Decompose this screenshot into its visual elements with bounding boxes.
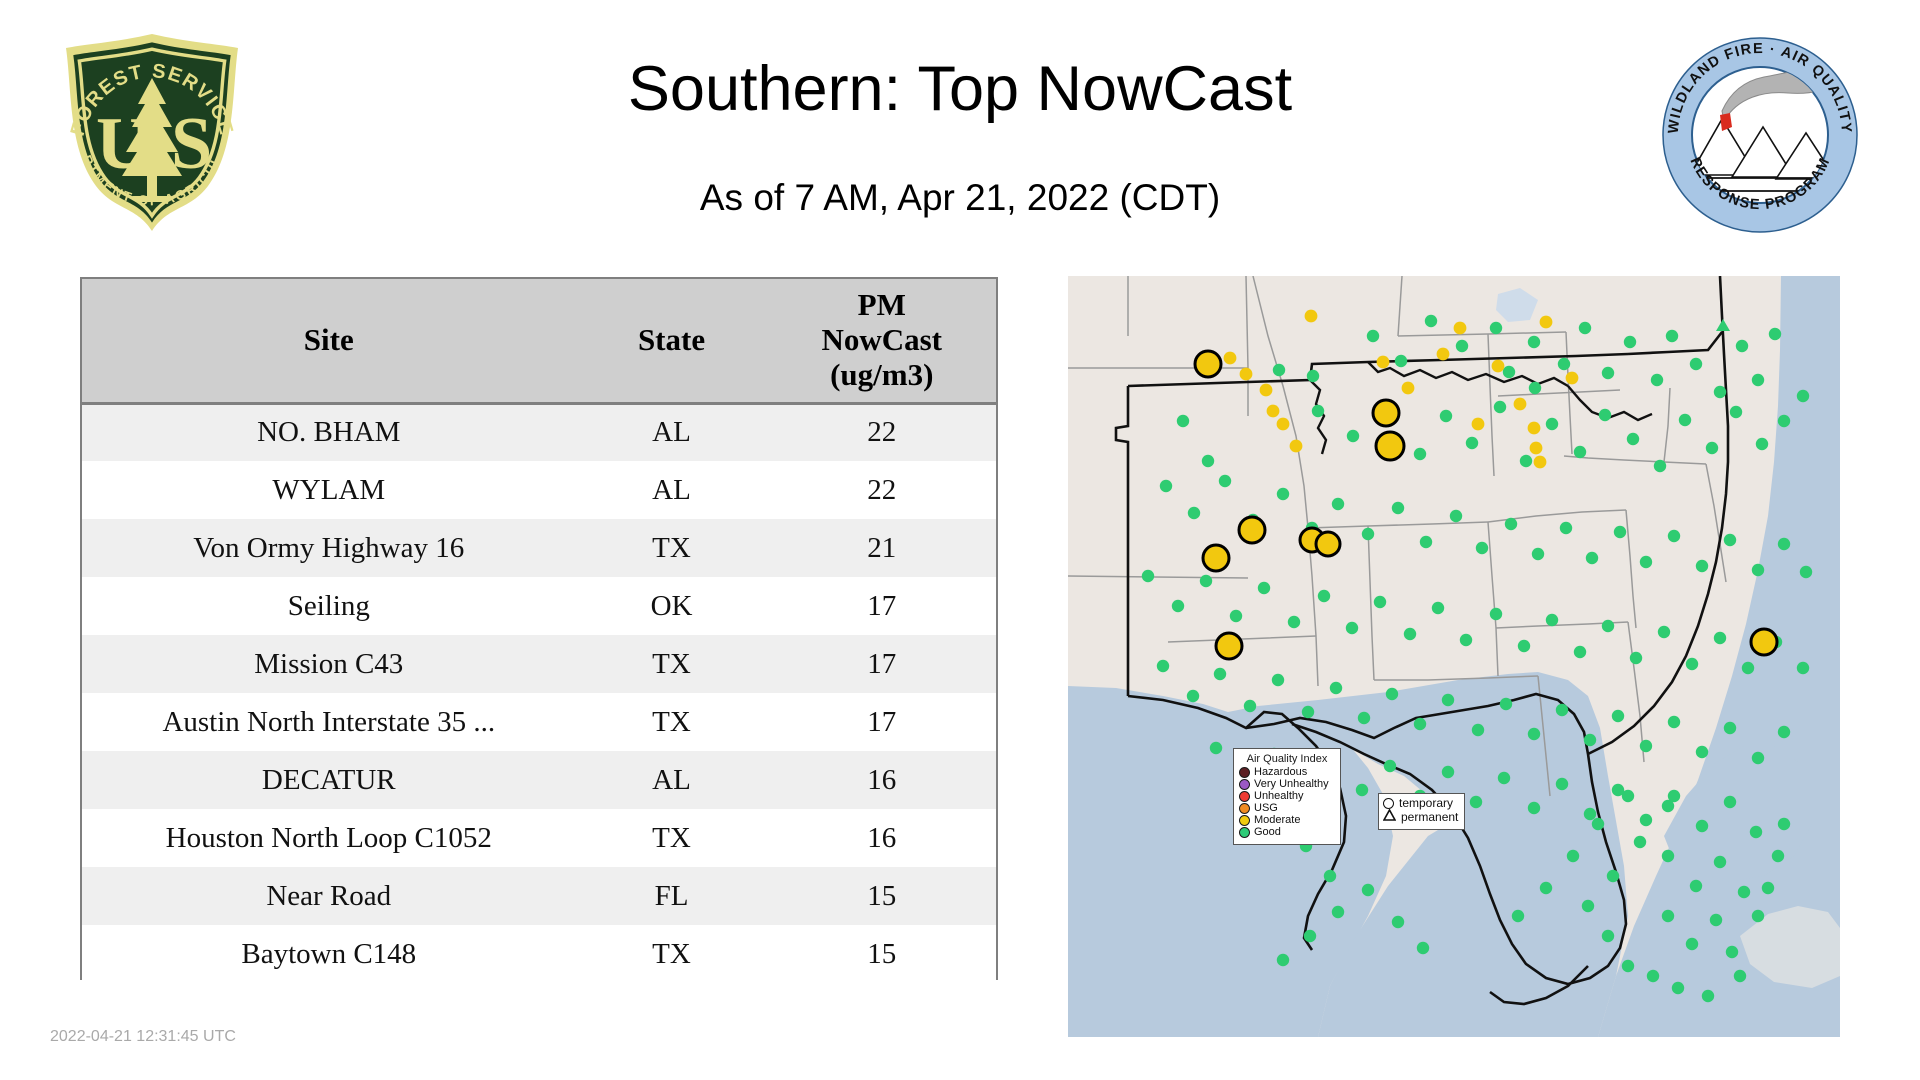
aqi-legend-dot-icon (1239, 779, 1250, 790)
marker-good[interactable] (1734, 970, 1746, 982)
marker-good[interactable] (1696, 746, 1708, 758)
cell-value: 22 (767, 461, 996, 519)
marker-good[interactable] (1579, 322, 1591, 334)
aqi-legend-label: Good (1254, 827, 1281, 838)
aqi-legend-label: Very Unhealthy (1254, 779, 1329, 790)
marker-good[interactable] (1520, 455, 1532, 467)
marker-good[interactable] (1503, 366, 1515, 378)
marker-good[interactable] (1200, 575, 1212, 587)
marker-good[interactable] (1647, 970, 1659, 982)
cell-value: 17 (767, 693, 996, 751)
marker-good[interactable] (1187, 690, 1199, 702)
marker-good[interactable] (1556, 778, 1568, 790)
marker-good[interactable] (1450, 510, 1462, 522)
cell-value: 15 (767, 925, 996, 983)
marker-good[interactable] (1592, 818, 1604, 830)
nowcast-report-page: FOREST SERVICE U S DEPARTMENT OF AGRICUL… (0, 0, 1920, 1080)
marker-moderate[interactable] (1437, 348, 1450, 361)
usfs-shield-logo: FOREST SERVICE U S DEPARTMENT OF AGRICUL… (52, 30, 252, 235)
cell-value: 15 (767, 867, 996, 925)
marker-good[interactable] (1612, 710, 1624, 722)
table-row[interactable]: Mission C43TX17 (82, 635, 996, 693)
table-row[interactable]: Baytown C148TX15 (82, 925, 996, 983)
marker-good[interactable] (1490, 322, 1502, 334)
marker-good[interactable] (1756, 438, 1768, 450)
marker-good[interactable] (1277, 954, 1289, 966)
marker-moderate[interactable] (1492, 360, 1505, 373)
marker-good[interactable] (1662, 850, 1674, 862)
cell-site: Mission C43 (82, 635, 576, 693)
marker-good[interactable] (1752, 910, 1764, 922)
marker-good[interactable] (1599, 409, 1611, 421)
marker-good[interactable] (1730, 406, 1742, 418)
pm-header-line3: (ug/m3) (771, 358, 992, 393)
legend-row-temporary: temporary (1383, 797, 1458, 809)
marker-good[interactable] (1490, 608, 1502, 620)
marker-good[interactable] (1714, 386, 1726, 398)
marker-good[interactable] (1624, 336, 1636, 348)
marker-good[interactable] (1202, 455, 1214, 467)
marker-good[interactable] (1724, 722, 1736, 734)
marker-good[interactable] (1346, 622, 1358, 634)
marker-good[interactable] (1607, 870, 1619, 882)
table-row[interactable]: Austin North Interstate 35 ...TX17 (82, 693, 996, 751)
table-row[interactable]: Von Ormy Highway 16TX21 (82, 519, 996, 577)
marker-good[interactable] (1630, 652, 1642, 664)
marker-good[interactable] (1686, 938, 1698, 950)
table-body: NO. BHAMAL22WYLAMAL22Von Ormy Highway 16… (82, 403, 996, 983)
column-header-pm-nowcast: PM NowCast (ug/m3) (767, 279, 996, 403)
legend-row-permanent: permanent (1383, 809, 1458, 825)
marker-good[interactable] (1392, 502, 1404, 514)
page-title: Southern: Top NowCast (330, 55, 1590, 124)
marker-good[interactable] (1560, 522, 1572, 534)
marker-moderate[interactable] (1305, 310, 1318, 323)
marker-moderate[interactable] (1566, 372, 1579, 385)
marker-good[interactable] (1736, 340, 1748, 352)
marker-good[interactable] (1472, 724, 1484, 736)
marker-good[interactable] (1574, 646, 1586, 658)
marker-good[interactable] (1332, 498, 1344, 510)
marker-good[interactable] (1404, 628, 1416, 640)
marker-good[interactable] (1273, 364, 1285, 376)
marker-good[interactable] (1710, 914, 1722, 926)
marker-good[interactable] (1272, 674, 1284, 686)
marker-good[interactable] (1476, 542, 1488, 554)
marker-good[interactable] (1324, 870, 1336, 882)
cell-site: Austin North Interstate 35 ... (82, 693, 576, 751)
marker-good[interactable] (1772, 850, 1784, 862)
marker-good[interactable] (1330, 682, 1342, 694)
marker-good[interactable] (1367, 330, 1379, 342)
marker-good[interactable] (1312, 405, 1324, 417)
aqi-legend-row: Good (1239, 827, 1335, 838)
marker-moderate[interactable] (1514, 398, 1527, 411)
marker-good[interactable] (1332, 906, 1344, 918)
marker-good[interactable] (1627, 433, 1639, 445)
marker-good[interactable] (1778, 415, 1790, 427)
marker-good[interactable] (1414, 718, 1426, 730)
marker-good[interactable] (1420, 536, 1432, 548)
marker-good[interactable] (1432, 602, 1444, 614)
cell-state: TX (576, 925, 768, 983)
marker-top-site[interactable] (1216, 633, 1242, 659)
table-header-row: Site State PM NowCast (ug/m3) (82, 279, 996, 403)
marker-moderate[interactable] (1240, 368, 1253, 381)
pm-header-line1: PM (771, 288, 992, 323)
marker-good[interactable] (1362, 528, 1374, 540)
air-quality-map[interactable]: Air Quality Index HazardousVery Unhealth… (1068, 276, 1840, 1037)
marker-permanent-good[interactable] (1716, 319, 1730, 331)
marker-good[interactable] (1666, 330, 1678, 342)
column-header-state: State (576, 279, 768, 403)
marker-good[interactable] (1505, 518, 1517, 530)
marker-good[interactable] (1679, 414, 1691, 426)
footer-timestamp: 2022-04-21 12:31:45 UTC (50, 1028, 236, 1046)
marker-good[interactable] (1362, 884, 1374, 896)
marker-good[interactable] (1230, 610, 1242, 622)
marker-good[interactable] (1494, 401, 1506, 413)
cell-site: Near Road (82, 867, 576, 925)
marker-good[interactable] (1714, 632, 1726, 644)
aqi-legend-dot-icon (1239, 827, 1250, 838)
wfaqrp-logo-svg: WILDLAND FIRE · AIR QUALITY RESPONSE PRO… (1660, 35, 1860, 235)
cell-state: OK (576, 577, 768, 635)
marker-moderate[interactable] (1224, 352, 1237, 365)
marker-good[interactable] (1574, 446, 1586, 458)
temporary-circle-icon (1383, 798, 1394, 809)
marker-top-site[interactable] (1376, 432, 1404, 460)
marker-good[interactable] (1258, 582, 1270, 594)
marker-moderate[interactable] (1472, 418, 1485, 431)
cell-site: Von Ormy Highway 16 (82, 519, 576, 577)
cell-site: Houston North Loop C1052 (82, 809, 576, 867)
marker-good[interactable] (1532, 548, 1544, 560)
marker-good[interactable] (1358, 712, 1370, 724)
pm-header-line2: NowCast (771, 323, 992, 358)
marker-good[interactable] (1686, 658, 1698, 670)
marker-good[interactable] (1540, 882, 1552, 894)
marker-good[interactable] (1662, 910, 1674, 922)
marker-good[interactable] (1724, 534, 1736, 546)
marker-good[interactable] (1752, 374, 1764, 386)
aqi-legend-dot-icon (1239, 767, 1250, 778)
marker-good[interactable] (1558, 358, 1570, 370)
marker-good[interactable] (1528, 728, 1540, 740)
marker-moderate[interactable] (1540, 316, 1553, 329)
marker-good[interactable] (1529, 382, 1541, 394)
aqi-legend-row: Hazardous (1239, 767, 1335, 778)
marker-good[interactable] (1567, 850, 1579, 862)
marker-good[interactable] (1302, 706, 1314, 718)
marker-good[interactable] (1425, 315, 1437, 327)
marker-good[interactable] (1690, 358, 1702, 370)
marker-moderate[interactable] (1454, 322, 1467, 335)
marker-good[interactable] (1172, 600, 1184, 612)
table-row[interactable]: Near RoadFL15 (82, 867, 996, 925)
cell-site: Seiling (82, 577, 576, 635)
marker-good[interactable] (1584, 808, 1596, 820)
marker-good[interactable] (1214, 668, 1226, 680)
marker-good[interactable] (1210, 742, 1222, 754)
aqi-legend-row: Moderate (1239, 815, 1335, 826)
marker-good[interactable] (1651, 374, 1663, 386)
marker-moderate[interactable] (1528, 422, 1541, 435)
cell-state: AL (576, 461, 768, 519)
aqi-legend-label: USG (1254, 803, 1278, 814)
cell-site: Baytown C148 (82, 925, 576, 983)
marker-good[interactable] (1347, 430, 1359, 442)
marker-good[interactable] (1634, 836, 1646, 848)
marker-good[interactable] (1622, 790, 1634, 802)
marker-good[interactable] (1470, 796, 1482, 808)
marker-moderate[interactable] (1290, 440, 1303, 453)
cell-state: TX (576, 635, 768, 693)
marker-good[interactable] (1277, 488, 1289, 500)
aqi-legend-dot-icon (1239, 803, 1250, 814)
marker-good[interactable] (1696, 820, 1708, 832)
cell-value: 17 (767, 577, 996, 635)
marker-moderate[interactable] (1377, 356, 1390, 369)
marker-good[interactable] (1726, 946, 1738, 958)
marker-good[interactable] (1762, 882, 1774, 894)
cell-value: 16 (767, 751, 996, 809)
aqi-legend-dot-icon (1239, 815, 1250, 826)
marker-good[interactable] (1672, 982, 1684, 994)
marker-good[interactable] (1498, 772, 1510, 784)
marker-good[interactable] (1518, 640, 1530, 652)
table-row[interactable]: SeilingOK17 (82, 577, 996, 635)
legend-label-temporary: temporary (1399, 797, 1453, 809)
marker-good[interactable] (1582, 900, 1594, 912)
marker-good[interactable] (1654, 460, 1666, 472)
marker-good[interactable] (1466, 437, 1478, 449)
marker-good[interactable] (1500, 698, 1512, 710)
marker-good[interactable] (1800, 566, 1812, 578)
marker-good[interactable] (1442, 766, 1454, 778)
marker-good[interactable] (1546, 614, 1558, 626)
top-nowcast-table: Site State PM NowCast (ug/m3) NO. BHAMAL… (80, 277, 998, 980)
marker-good[interactable] (1752, 752, 1764, 764)
marker-good[interactable] (1778, 538, 1790, 550)
marker-top-site[interactable] (1239, 517, 1265, 543)
marker-top-site[interactable] (1316, 532, 1340, 556)
cell-state: FL (576, 867, 768, 925)
marker-good[interactable] (1584, 734, 1596, 746)
page-subtitle: As of 7 AM, Apr 21, 2022 (CDT) (330, 178, 1590, 219)
marker-type-legend: temporary permanent (1378, 793, 1465, 830)
marker-moderate[interactable] (1277, 418, 1290, 431)
marker-good[interactable] (1706, 442, 1718, 454)
marker-good[interactable] (1392, 916, 1404, 928)
cell-site: NO. BHAM (82, 403, 576, 461)
marker-good[interactable] (1724, 796, 1736, 808)
marker-good[interactable] (1528, 802, 1540, 814)
marker-good[interactable] (1414, 448, 1426, 460)
marker-good[interactable] (1696, 560, 1708, 572)
legend-label-permanent: permanent (1401, 811, 1458, 823)
column-header-site: Site (82, 279, 576, 403)
marker-good[interactable] (1622, 960, 1634, 972)
cell-state: AL (576, 751, 768, 809)
permanent-triangle-icon (1383, 809, 1396, 825)
marker-good[interactable] (1188, 507, 1200, 519)
marker-good[interactable] (1658, 626, 1670, 638)
marker-top-site[interactable] (1751, 629, 1777, 655)
marker-moderate[interactable] (1402, 382, 1415, 395)
cell-value: 16 (767, 809, 996, 867)
table-row[interactable]: Houston North Loop C1052TX16 (82, 809, 996, 867)
aqi-legend: Air Quality Index HazardousVery Unhealth… (1233, 748, 1341, 845)
cell-site: DECATUR (82, 751, 576, 809)
cell-site: WYLAM (82, 461, 576, 519)
marker-moderate[interactable] (1267, 405, 1280, 418)
table-row[interactable]: WYLAMAL22 (82, 461, 996, 519)
table-row[interactable]: DECATURAL16 (82, 751, 996, 809)
marker-good[interactable] (1177, 415, 1189, 427)
marker-top-site[interactable] (1203, 545, 1229, 571)
aqi-legend-items: HazardousVery UnhealthyUnhealthyUSGModer… (1239, 767, 1335, 838)
marker-good[interactable] (1142, 570, 1154, 582)
marker-good[interactable] (1157, 660, 1169, 672)
marker-top-site[interactable] (1195, 351, 1221, 377)
cell-value: 21 (767, 519, 996, 577)
marker-good[interactable] (1417, 942, 1429, 954)
marker-good[interactable] (1797, 662, 1809, 674)
marker-good[interactable] (1662, 800, 1674, 812)
marker-good[interactable] (1714, 856, 1726, 868)
marker-good[interactable] (1288, 616, 1300, 628)
aqi-legend-row: USG (1239, 803, 1335, 814)
marker-good[interactable] (1456, 340, 1468, 352)
lake-hint (1496, 288, 1538, 322)
usfs-shield-svg: FOREST SERVICE U S DEPARTMENT OF AGRICUL… (52, 30, 252, 235)
cell-value: 17 (767, 635, 996, 693)
aqi-legend-label: Hazardous (1254, 767, 1307, 778)
marker-moderate[interactable] (1534, 456, 1547, 469)
marker-moderate[interactable] (1260, 384, 1273, 397)
cell-state: TX (576, 693, 768, 751)
marker-good[interactable] (1440, 410, 1452, 422)
wfaqrp-circular-logo: WILDLAND FIRE · AIR QUALITY RESPONSE PRO… (1660, 35, 1860, 235)
aqi-legend-label: Moderate (1254, 815, 1300, 826)
marker-good[interactable] (1384, 760, 1396, 772)
marker-good[interactable] (1640, 740, 1652, 752)
marker-good[interactable] (1640, 814, 1652, 826)
marker-moderate[interactable] (1530, 442, 1543, 455)
aqi-legend-label: Unhealthy (1254, 791, 1304, 802)
marker-top-site[interactable] (1373, 400, 1399, 426)
aqi-legend-dot-icon (1239, 791, 1250, 802)
marker-good[interactable] (1586, 552, 1598, 564)
marker-good[interactable] (1742, 662, 1754, 674)
marker-good[interactable] (1546, 418, 1558, 430)
marker-good[interactable] (1442, 694, 1454, 706)
marker-good[interactable] (1307, 370, 1319, 382)
marker-good[interactable] (1778, 726, 1790, 738)
marker-good[interactable] (1160, 480, 1172, 492)
aqi-legend-row: Unhealthy (1239, 791, 1335, 802)
cell-value: 22 (767, 403, 996, 461)
marker-good[interactable] (1614, 526, 1626, 538)
marker-good[interactable] (1512, 910, 1524, 922)
aqi-legend-title: Air Quality Index (1239, 753, 1335, 765)
marker-good[interactable] (1750, 826, 1762, 838)
marker-good[interactable] (1386, 688, 1398, 700)
marker-good[interactable] (1602, 930, 1614, 942)
marker-good[interactable] (1640, 556, 1652, 568)
marker-good[interactable] (1395, 355, 1407, 367)
marker-good[interactable] (1528, 336, 1540, 348)
marker-good[interactable] (1356, 784, 1368, 796)
marker-good[interactable] (1602, 620, 1614, 632)
marker-good[interactable] (1738, 886, 1750, 898)
marker-good[interactable] (1460, 634, 1472, 646)
marker-good[interactable] (1318, 590, 1330, 602)
marker-good[interactable] (1304, 930, 1316, 942)
marker-good[interactable] (1778, 818, 1790, 830)
marker-good[interactable] (1244, 700, 1256, 712)
cell-state: TX (576, 519, 768, 577)
marker-good[interactable] (1702, 990, 1714, 1002)
marker-good[interactable] (1752, 564, 1764, 576)
marker-good[interactable] (1556, 704, 1568, 716)
marker-good[interactable] (1219, 475, 1231, 487)
marker-good[interactable] (1690, 880, 1702, 892)
marker-good[interactable] (1602, 367, 1614, 379)
marker-good[interactable] (1769, 328, 1781, 340)
table-row[interactable]: NO. BHAMAL22 (82, 403, 996, 461)
aqi-legend-row: Very Unhealthy (1239, 779, 1335, 790)
cell-state: TX (576, 809, 768, 867)
marker-good[interactable] (1668, 716, 1680, 728)
cell-state: AL (576, 403, 768, 461)
marker-good[interactable] (1797, 390, 1809, 402)
marker-good[interactable] (1668, 530, 1680, 542)
marker-good[interactable] (1374, 596, 1386, 608)
kentucky-border (1310, 362, 1652, 454)
map-geometry (1068, 276, 1840, 1037)
